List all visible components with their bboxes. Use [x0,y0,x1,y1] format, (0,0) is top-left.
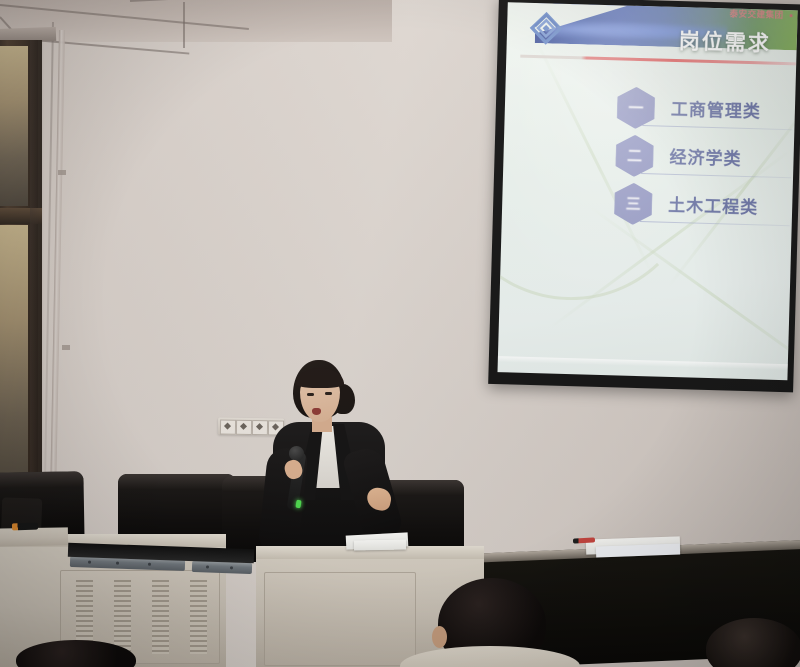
pipe-joint [62,345,70,350]
desk-vent [190,580,207,654]
presentation-photograph: 泰安交建集团 岗位需求 一 工商管理类 二 经济 [0,0,800,667]
slide-list-item: 二 经济学类 [503,128,794,184]
window [0,40,42,510]
slide-title: 岗位需求 [678,25,771,58]
slide-corporate-name: 泰安交建集团 [729,7,783,21]
marker-pen [12,523,38,531]
projection-screen: 泰安交建集团 岗位需求 一 工商管理类 二 经济 [488,0,800,392]
speaker-eye-right [325,392,332,395]
slide-item-label: 土木工程类 [668,191,759,219]
slide-item-badge: 一 [616,86,655,129]
slide-item-numeral: 一 [628,100,643,115]
audience-ear [432,626,447,648]
slide-item-list: 一 工商管理类 二 经济学类 三 土木工程类 [502,80,796,232]
slide-surface: 泰安交建集团 岗位需求 一 工商管理类 二 经济 [497,2,797,380]
speaker-mouth [312,408,321,415]
slide-list-item: 一 工商管理类 [504,80,795,136]
screen-bottom-glow [498,356,788,370]
paper-sheet [354,540,406,551]
company-diamond-logo [529,11,564,46]
ceiling-grid-line [183,2,185,48]
slide-item-badge: 三 [614,182,653,225]
pipe-joint [58,170,66,175]
slide-item-underline [640,221,790,226]
slide-item-label: 工商管理类 [671,95,762,123]
desk-vent [114,580,131,654]
slide-item-badge: 二 [615,134,654,177]
slide-header: 泰安交建集团 岗位需求 [506,2,797,66]
window-pane-upper [0,46,28,206]
slide-item-underline [641,173,791,178]
slide-item-label: 经济学类 [669,143,742,170]
desk-vent [152,580,169,654]
slide-list-item: 三 土木工程类 [502,176,793,232]
chair-headrest [118,474,236,490]
podium-front-panel [264,572,416,666]
speaker-eye-left [307,393,314,396]
slide-item-numeral: 二 [627,148,642,163]
slide-item-underline [642,125,792,130]
chair-headrest [0,471,84,489]
slide-item-numeral: 三 [626,196,641,211]
window-shadow [30,40,44,510]
slide-corporate-dot [790,14,793,17]
ceiling-grid-line [130,0,400,2]
ceiling-grid-line [0,4,249,30]
desk-surface-left [0,527,68,546]
window-pane-lower [0,225,28,500]
